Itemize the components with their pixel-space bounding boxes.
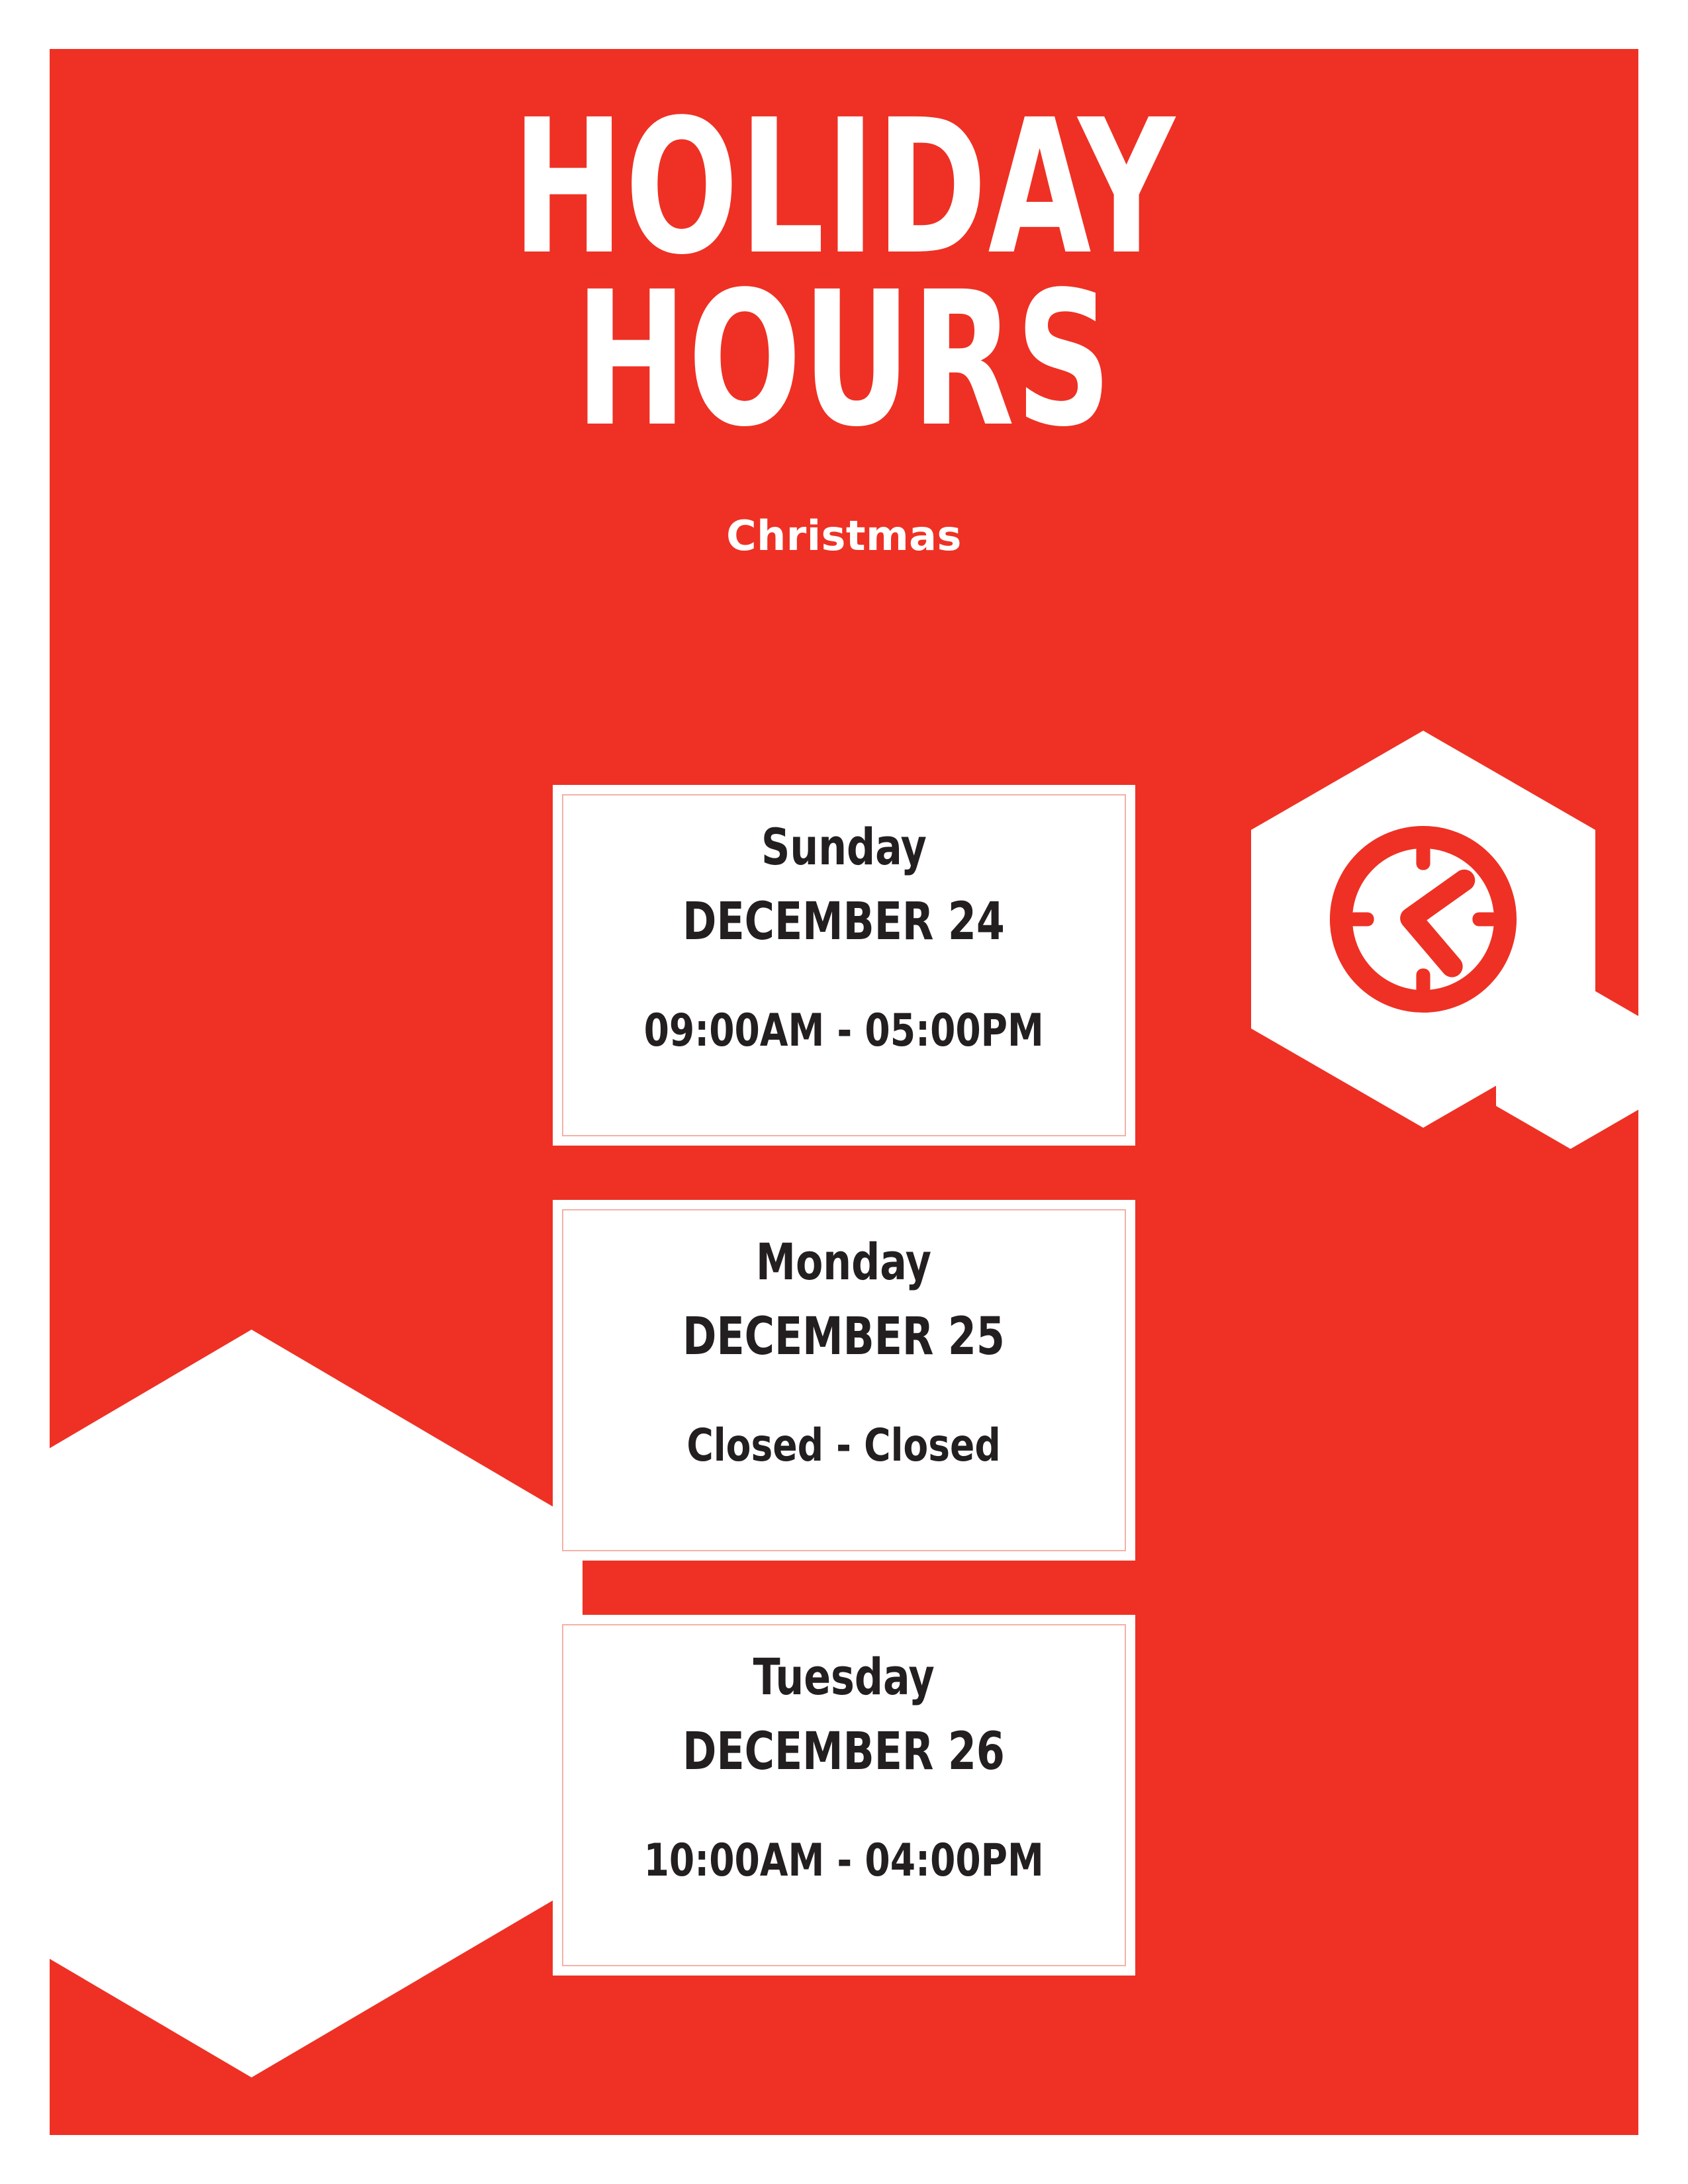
- day-name: Sunday: [761, 822, 927, 872]
- page-title-line-2: HOURS: [209, 274, 1479, 446]
- schedule-card: Monday DECEMBER 25 Closed - Closed: [553, 1200, 1135, 1561]
- day-date: DECEMBER 24: [683, 896, 1006, 948]
- holiday-hours-poster: HOLIDAY HOURS Christmas Sunday DECEMBER …: [50, 49, 1638, 2135]
- schedule-list: Sunday DECEMBER 24 09:00AM - 05:00PM Mon…: [553, 785, 1135, 2030]
- page-title-line-1: HOLIDAY: [209, 102, 1479, 274]
- hexagon-shape-corner: [50, 1330, 583, 2077]
- day-hours: 10:00AM - 04:00PM: [644, 1839, 1044, 1884]
- poster-subtitle: Christmas: [50, 512, 1638, 560]
- clock-icon: [1321, 817, 1526, 1022]
- day-name: Tuesday: [753, 1652, 935, 1702]
- schedule-card: Sunday DECEMBER 24 09:00AM - 05:00PM: [553, 785, 1135, 1146]
- day-date: DECEMBER 26: [683, 1726, 1006, 1778]
- day-date: DECEMBER 25: [683, 1311, 1006, 1363]
- day-hours: 09:00AM - 05:00PM: [644, 1009, 1044, 1054]
- day-hours: Closed - Closed: [687, 1424, 1001, 1469]
- poster-title-block: HOLIDAY HOURS Christmas: [50, 102, 1638, 560]
- day-name: Monday: [757, 1237, 932, 1287]
- schedule-card: Tuesday DECEMBER 26 10:00AM - 04:00PM: [553, 1615, 1135, 1976]
